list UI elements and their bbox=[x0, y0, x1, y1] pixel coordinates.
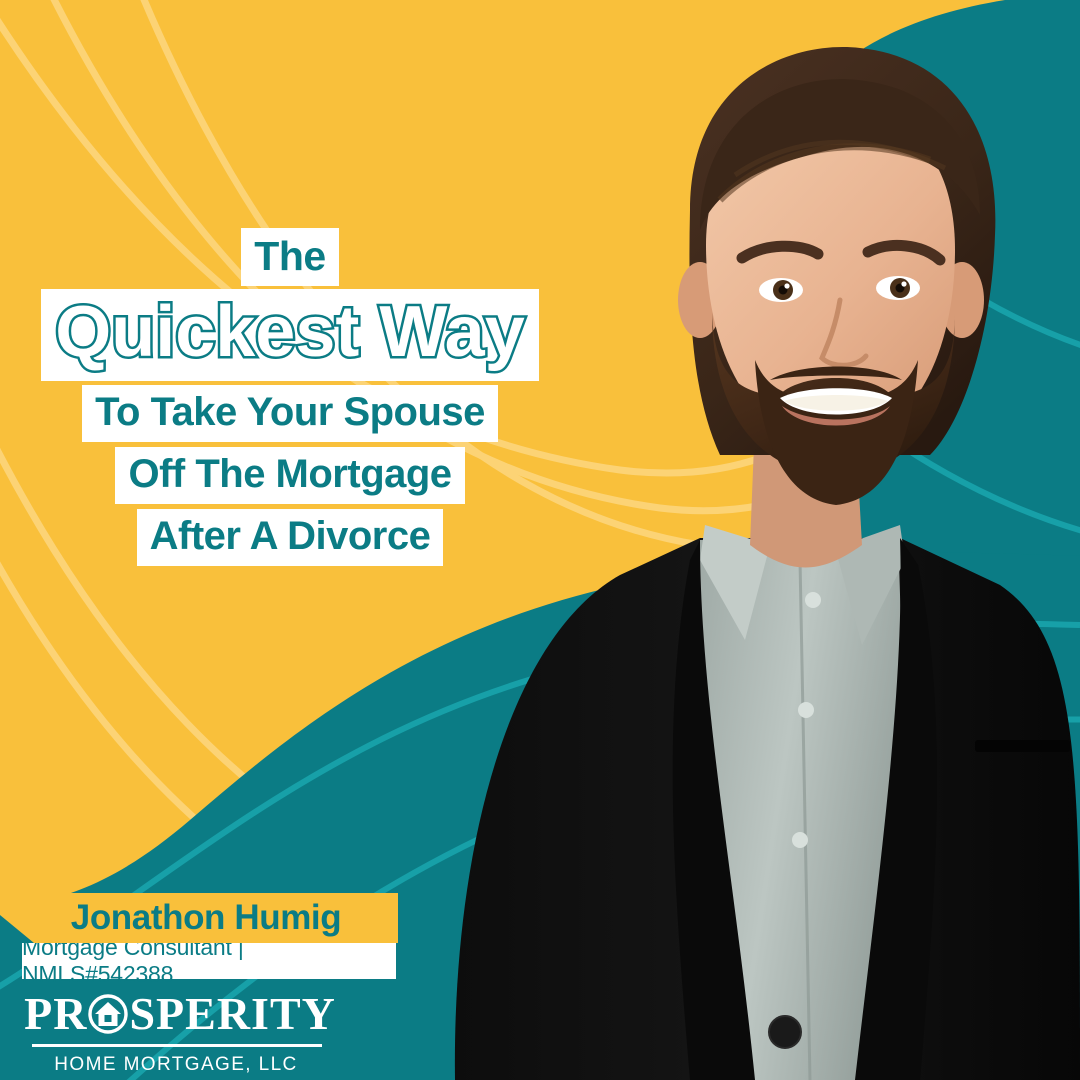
headline-line-4: Off The Mortgage bbox=[115, 447, 464, 504]
agent-name: Jonathon Humig bbox=[71, 898, 342, 938]
logo-wordmark: PR SPERITY bbox=[30, 988, 330, 1040]
agent-credentials-bar: Mortgage Consultant | NMLS#542388 bbox=[22, 943, 396, 979]
logo-word-before: PR bbox=[24, 991, 87, 1037]
agent-name-banner: Jonathon Humig Mortgage Consultant | NML… bbox=[0, 893, 398, 979]
headline-line-5-row: After A Divorce bbox=[0, 509, 580, 571]
headline-line-1-row: The bbox=[0, 228, 580, 289]
headline-line-1: The bbox=[241, 228, 338, 286]
headline-line-3: To Take Your Spouse bbox=[82, 385, 498, 442]
agent-name-bar: Jonathon Humig bbox=[0, 893, 398, 943]
logo-divider-rule bbox=[32, 1044, 322, 1047]
social-media-graphic: The Quickest Way To Take Your Spouse Off… bbox=[0, 0, 1080, 1080]
logo-word-after: SPERITY bbox=[129, 991, 335, 1037]
headline-line-5: After A Divorce bbox=[137, 509, 444, 566]
house-in-circle-icon bbox=[88, 994, 128, 1034]
headline-block: The Quickest Way To Take Your Spouse Off… bbox=[0, 228, 580, 571]
logo-tagline: HOME MORTGAGE, LLC bbox=[30, 1054, 322, 1076]
company-logo: PR SPERITY HOME MORTGAGE, LLC bbox=[30, 988, 330, 1076]
headline-line-2-row: Quickest Way bbox=[0, 289, 580, 385]
headline-line-4-row: Off The Mortgage bbox=[0, 447, 580, 509]
headline-line-3-row: To Take Your Spouse bbox=[0, 385, 580, 447]
headline-line-2-emphasis: Quickest Way bbox=[41, 289, 539, 381]
